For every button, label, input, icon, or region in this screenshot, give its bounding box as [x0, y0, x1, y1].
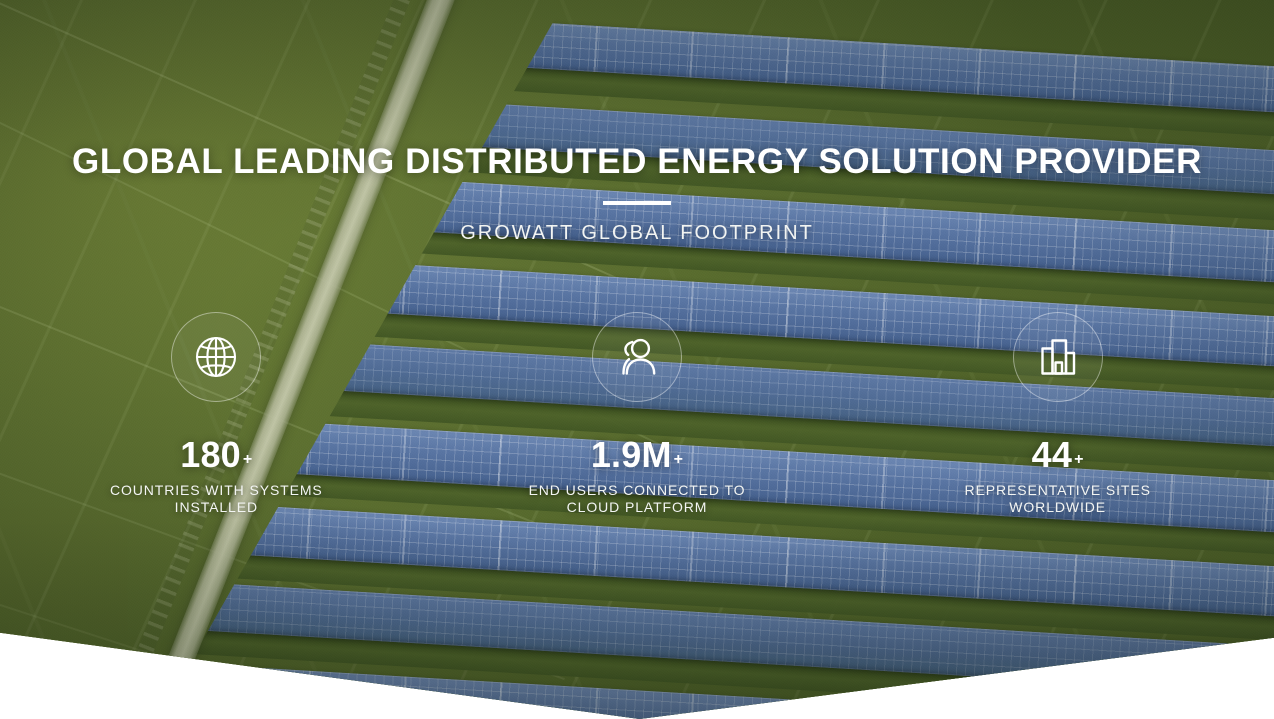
stat-value: 180+ [180, 436, 252, 474]
page-subtitle: GROWATT GLOBAL FOOTPRINT [0, 220, 1274, 246]
stat-label: COUNTRIES WITH SYSTEMS INSTALLED [81, 482, 351, 516]
hero-content: GLOBAL LEADING DISTRIBUTED ENERGY SOLUTI… [0, 0, 1274, 719]
stats-row: 180+ COUNTRIES WITH SYSTEMS INSTALLED 1.… [0, 312, 1274, 516]
stat-value: 1.9M+ [591, 436, 683, 474]
hero-banner: GLOBAL LEADING DISTRIBUTED ENERGY SOLUTI… [0, 0, 1274, 719]
stat-item-sites: 44+ REPRESENTATIVE SITES WORLDWIDE [847, 312, 1268, 516]
stat-suffix: + [1074, 452, 1084, 468]
stat-number: 180 [180, 436, 241, 474]
stat-number: 44 [1032, 436, 1072, 474]
globe-icon [171, 312, 261, 402]
stat-label: END USERS CONNECTED TO CLOUD PLATFORM [502, 482, 772, 516]
stat-item-end-users: 1.9M+ END USERS CONNECTED TO CLOUD PLATF… [427, 312, 848, 516]
stat-number: 1.9M [591, 436, 672, 474]
stat-value: 44+ [1032, 436, 1084, 474]
buildings-icon [1013, 312, 1103, 402]
stat-label: REPRESENTATIVE SITES WORLDWIDE [923, 482, 1193, 516]
users-icon [592, 312, 682, 402]
stat-suffix: + [243, 452, 253, 468]
title-divider [603, 201, 671, 205]
stat-suffix: + [674, 452, 684, 468]
page-title: GLOBAL LEADING DISTRIBUTED ENERGY SOLUTI… [0, 141, 1274, 183]
stat-item-countries: 180+ COUNTRIES WITH SYSTEMS INSTALLED [6, 312, 427, 516]
